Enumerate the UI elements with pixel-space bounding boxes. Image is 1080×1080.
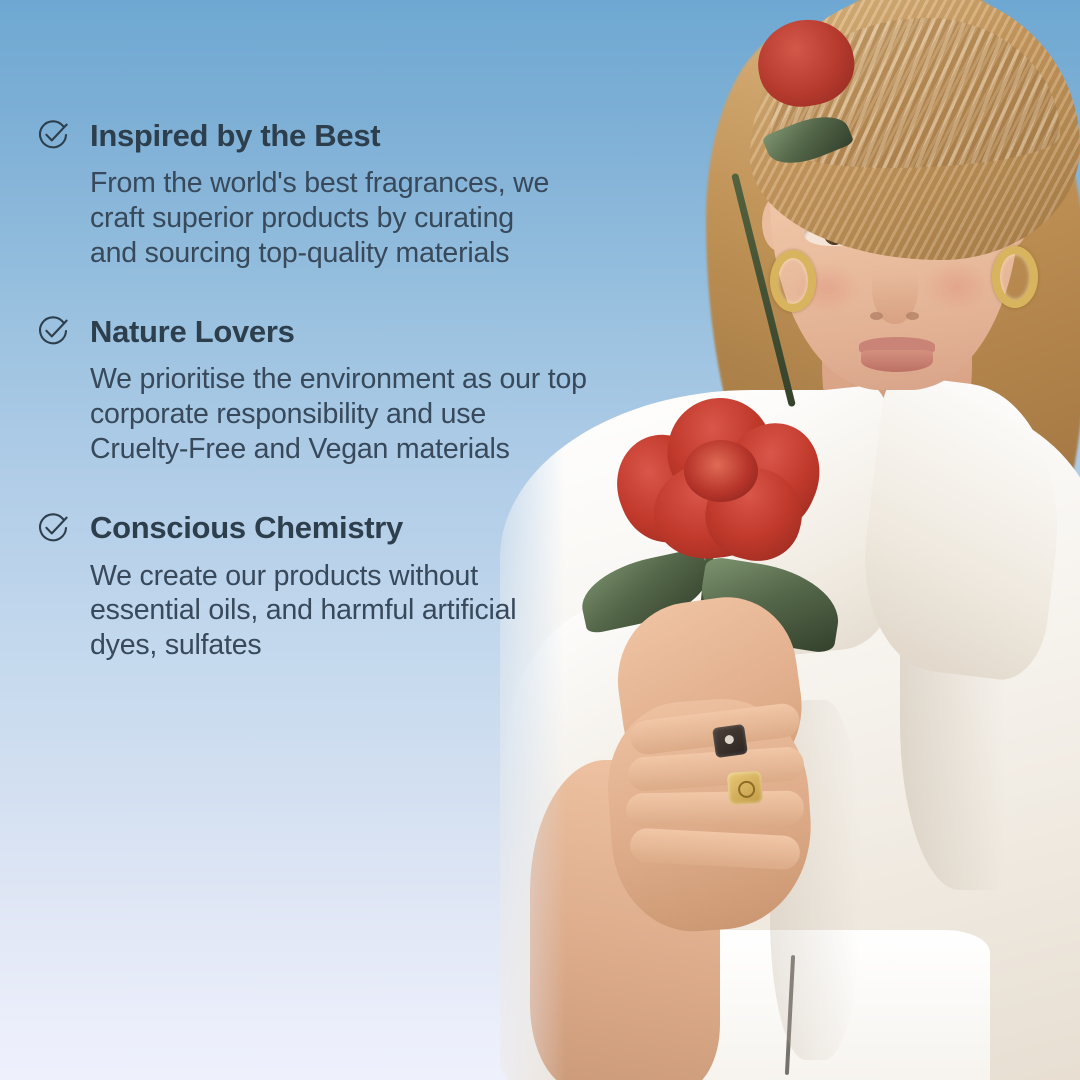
rose-stem-secondary [731, 173, 796, 408]
hair-left-side [706, 30, 856, 500]
finger [629, 828, 801, 871]
eye-right [914, 221, 972, 245]
feature-description: From the world's best fragrances, we cra… [90, 166, 680, 270]
ring-gold [727, 771, 763, 805]
collar-right [851, 374, 1075, 685]
rose-leaf [695, 556, 845, 655]
hair-fringe [770, 18, 1060, 168]
garment-fold [770, 700, 860, 1060]
feature-title: Conscious Chemistry [90, 512, 403, 543]
lower-lip [861, 350, 933, 372]
check-circle-icon [36, 511, 70, 545]
feature-description: We create our products without essential… [90, 559, 680, 663]
iris [932, 223, 953, 244]
garment-fold [900, 470, 1050, 890]
finger [627, 746, 805, 792]
feature-title: Inspired by the Best [90, 120, 380, 151]
cheek-right [922, 260, 992, 312]
feature-title: Nature Lovers [90, 316, 295, 347]
rose-leaf [762, 106, 855, 175]
nostril-left [870, 312, 883, 320]
iris [824, 224, 845, 245]
feature-heading-row: Conscious Chemistry [36, 511, 680, 545]
feature-heading-row: Inspired by the Best [36, 118, 680, 152]
upper-lip [859, 337, 935, 354]
neck [822, 285, 972, 485]
earring-left [770, 250, 816, 312]
ear-right [994, 190, 1028, 248]
ear-left [762, 195, 796, 251]
check-circle-icon [36, 118, 70, 152]
promo-poster: Inspired by the Best From the world's be… [0, 0, 1080, 1080]
rose-center [684, 440, 758, 502]
collar-left [715, 384, 911, 660]
rose-petal [703, 407, 836, 548]
cheek-left [792, 262, 862, 314]
check-circle-icon [36, 314, 70, 348]
feature-item-inspired-by-the-best: Inspired by the Best From the world's be… [36, 118, 680, 270]
rose-stem [675, 520, 717, 849]
face [770, 70, 1020, 390]
eyebrow-left [800, 189, 875, 204]
drawstring [785, 955, 795, 1075]
arm-left [530, 760, 720, 1080]
rose-petal [696, 458, 811, 570]
pupil [938, 228, 947, 237]
arm-right [829, 641, 1080, 1080]
pupil [830, 229, 839, 238]
hand-lower [602, 693, 818, 936]
finger [629, 702, 802, 756]
hair-top [750, 0, 1080, 260]
feature-item-nature-lovers: Nature Lovers We prioritise the environm… [36, 314, 680, 466]
white-trousers [660, 930, 990, 1080]
feature-heading-row: Nature Lovers [36, 314, 680, 348]
feature-list: Inspired by the Best From the world's be… [0, 0, 680, 663]
ring-dark-stone [712, 724, 748, 758]
earring-right [992, 246, 1038, 308]
feature-description: We prioritise the environment as our top… [90, 362, 680, 466]
feature-item-conscious-chemistry: Conscious Chemistry We create our produc… [36, 511, 680, 663]
nostril-right [906, 312, 919, 320]
eyebrow-right [910, 187, 984, 201]
eyelash [804, 222, 862, 229]
neck-shadow [826, 300, 966, 410]
eyelash [914, 221, 972, 228]
nose [872, 250, 918, 324]
eye-left [804, 222, 862, 246]
finger [626, 790, 805, 827]
hair-back [728, 0, 1080, 680]
rose-bud [751, 12, 860, 113]
